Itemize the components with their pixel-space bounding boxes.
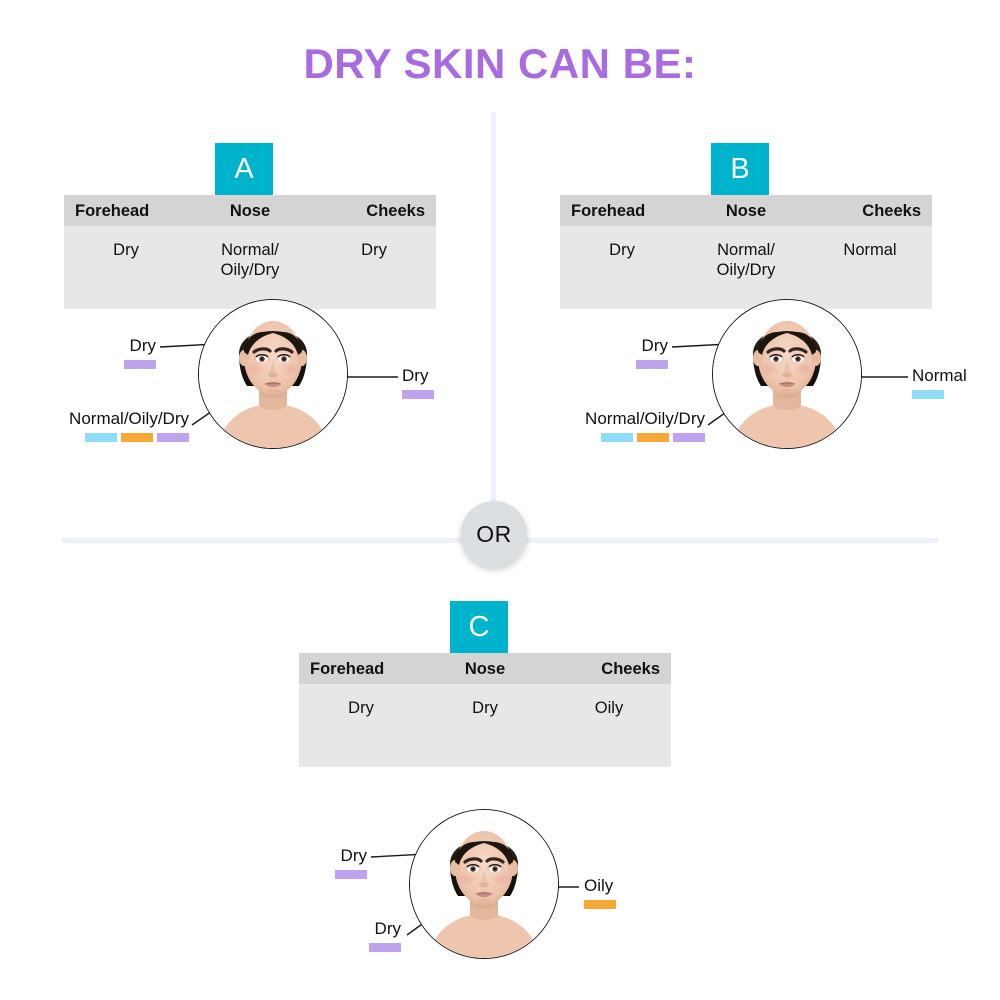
table-data-row: Dry Dry Oily <box>299 684 671 767</box>
callout-cheek-a: Dry <box>402 366 492 399</box>
cell-forehead: Dry <box>299 698 423 718</box>
face-diagram-b: Dry Normal Normal/Oily/Dry <box>560 291 932 481</box>
callout-label: Normal/Oily/Dry <box>550 409 705 428</box>
swatch-purple <box>335 870 367 879</box>
page-title: DRY SKIN CAN BE: <box>0 40 1000 88</box>
callout-swatches <box>64 360 156 369</box>
swatch-orange <box>584 900 616 909</box>
vertical-divider <box>491 112 496 542</box>
column-header-nose: Nose <box>188 201 312 221</box>
callout-label: Dry <box>275 846 367 865</box>
column-header-cheeks: Cheeks <box>547 659 671 679</box>
callout-forehead-b: Dry <box>576 336 668 369</box>
callout-forehead-c: Dry <box>275 846 367 879</box>
cell-forehead: Dry <box>560 240 684 260</box>
panel-letter-badge-c: C <box>450 601 508 653</box>
cell-cheeks: Oily <box>547 698 671 718</box>
panel-letter-badge-a: A <box>215 143 273 195</box>
face-photo-circle-a <box>198 299 348 449</box>
callout-label: Dry <box>402 366 492 385</box>
column-header-forehead: Forehead <box>560 201 684 221</box>
face-illustration <box>199 300 347 448</box>
callout-forehead-a: Dry <box>64 336 156 369</box>
face-illustration <box>410 810 558 958</box>
swatch-cyan <box>601 433 633 442</box>
callout-swatches <box>402 390 492 399</box>
swatch-orange <box>637 433 669 442</box>
face-diagram-a: Dry Dry Normal/Oily/Dry <box>64 291 436 481</box>
swatch-purple <box>636 360 668 369</box>
column-header-forehead: Forehead <box>299 659 423 679</box>
swatch-orange <box>121 433 153 442</box>
swatch-purple <box>402 390 434 399</box>
face-illustration <box>713 300 861 448</box>
cell-cheeks: Dry <box>312 240 436 260</box>
callout-swatches <box>912 390 1000 399</box>
cell-forehead: Dry <box>64 240 188 260</box>
column-header-cheeks: Cheeks <box>312 201 436 221</box>
face-photo-circle-b <box>712 299 862 449</box>
infographic-canvas: DRY SKIN CAN BE: OR A Forehead Nose Chee… <box>0 0 1000 1000</box>
skin-table-c: Forehead Nose Cheeks Dry Dry Oily <box>299 653 671 767</box>
callout-swatches <box>34 433 189 442</box>
callout-label: Dry <box>576 336 668 355</box>
callout-swatches <box>275 870 367 879</box>
callout-cheek-c: Oily <box>584 876 674 909</box>
column-header-nose: Nose <box>423 659 547 679</box>
swatch-purple <box>124 360 156 369</box>
cell-cheeks: Normal <box>808 240 932 260</box>
column-header-forehead: Forehead <box>64 201 188 221</box>
table-header-row: Forehead Nose Cheeks <box>560 195 932 226</box>
callout-label: Normal <box>912 366 1000 385</box>
callout-nose-a: Normal/Oily/Dry <box>34 409 189 442</box>
callout-label: Normal/Oily/Dry <box>34 409 189 428</box>
callout-swatches <box>576 360 668 369</box>
cell-nose: Dry <box>423 698 547 718</box>
callout-nose-c: Dry <box>309 919 401 952</box>
cell-nose: Normal/ Oily/Dry <box>684 240 808 280</box>
table-header-row: Forehead Nose Cheeks <box>299 653 671 684</box>
column-header-cheeks: Cheeks <box>808 201 932 221</box>
or-divider-badge: OR <box>461 501 527 567</box>
face-photo-circle-c <box>409 809 559 959</box>
table-header-row: Forehead Nose Cheeks <box>64 195 436 226</box>
callout-label: Oily <box>584 876 674 895</box>
swatch-cyan <box>85 433 117 442</box>
callout-label: Dry <box>64 336 156 355</box>
callout-label: Dry <box>309 919 401 938</box>
swatch-purple <box>157 433 189 442</box>
callout-cheek-b: Normal <box>912 366 1000 399</box>
callout-swatches <box>550 433 705 442</box>
column-header-nose: Nose <box>684 201 808 221</box>
panel-letter-badge-b: B <box>711 143 769 195</box>
swatch-purple <box>673 433 705 442</box>
swatch-cyan <box>912 390 944 399</box>
swatch-purple <box>369 943 401 952</box>
cell-nose: Normal/ Oily/Dry <box>188 240 312 280</box>
face-diagram-c: Dry Oily Dry <box>299 799 671 989</box>
callout-nose-b: Normal/Oily/Dry <box>550 409 705 442</box>
callout-swatches <box>309 943 401 952</box>
callout-swatches <box>584 900 674 909</box>
